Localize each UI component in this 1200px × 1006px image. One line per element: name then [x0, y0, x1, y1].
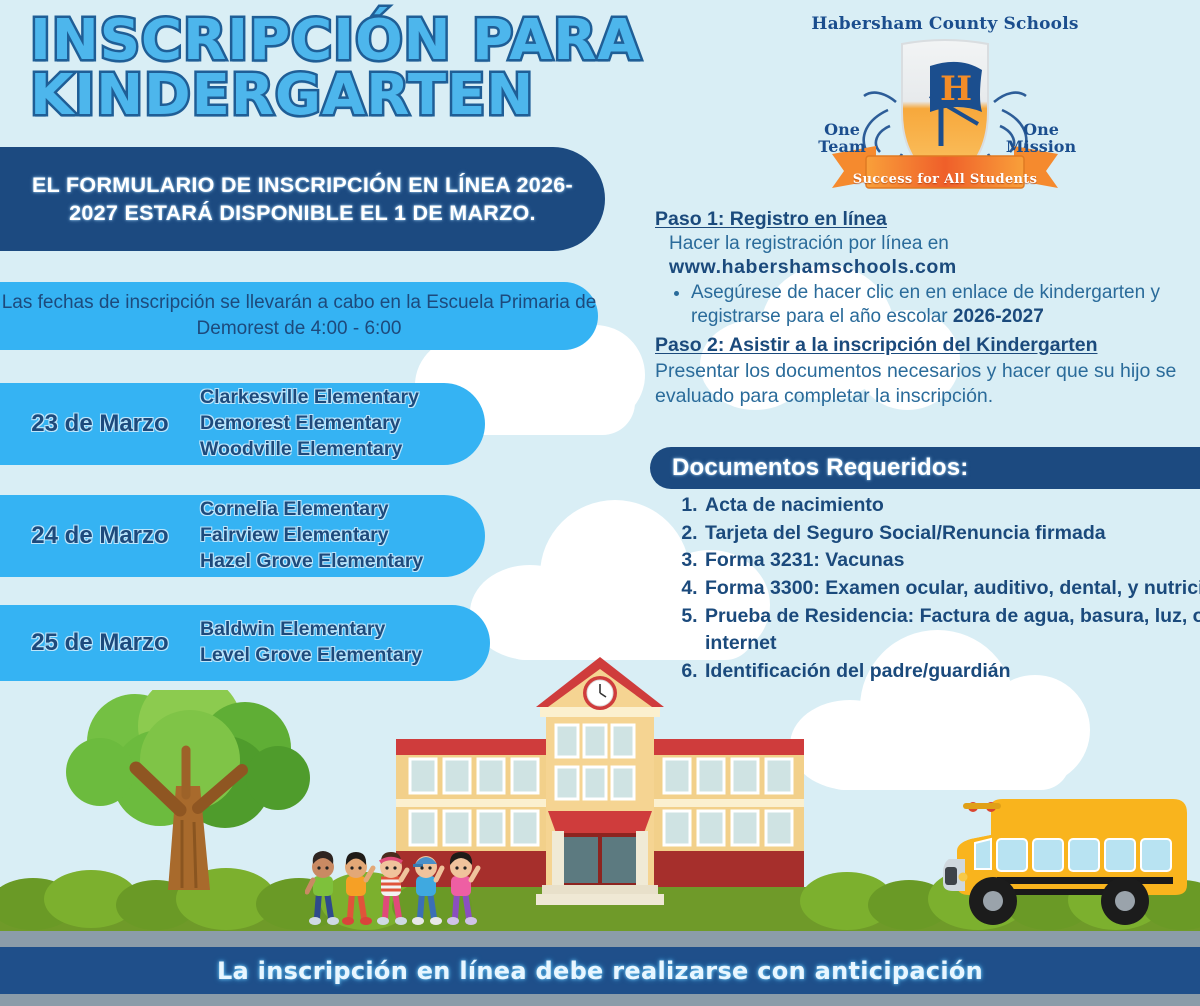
list-item: Asegúrese de hacer clic en en enlace de …	[691, 281, 1200, 330]
announcement-text: EL FORMULARIO DE INSCRIPCIÓN EN LÍNEA 20…	[0, 171, 605, 228]
title-line-2: KINDERGARTEN	[30, 69, 650, 122]
list-item: Prueba de Residencia: Factura de agua, b…	[703, 603, 1200, 658]
school-name: Baldwin Elementary	[200, 617, 422, 643]
child-2	[342, 852, 373, 925]
tree-illustration	[40, 690, 320, 905]
logo-left-motto: One Team	[812, 122, 872, 156]
school-name: Woodville Elementary	[200, 437, 419, 463]
step2-body: Presentar los documentos necesarios y ha…	[655, 359, 1200, 410]
list-item: Tarjeta del Seguro Social/Renuncia firma…	[703, 520, 1200, 548]
list-item: Forma 3231: Vacunas	[703, 547, 1200, 575]
list-item: Acta de nacimiento	[703, 492, 1200, 520]
poster-canvas: INSCRIPCIÓN PARA KINDERGARTEN EL FORMULA…	[0, 0, 1200, 1006]
announcement-banner: EL FORMULARIO DE INSCRIPCIÓN EN LÍNEA 20…	[0, 147, 605, 251]
footer-banner: La inscripción en línea debe realizarse …	[0, 947, 1200, 994]
school-name: Demorest Elementary	[200, 411, 419, 437]
footer-text: La inscripción en línea debe realizarse …	[217, 957, 983, 985]
step1-bullet-list: Asegúrese de hacer clic en en enlace de …	[655, 281, 1200, 330]
step2-heading: Paso 2: Asistir a la inscripción del Kin…	[655, 334, 1200, 357]
school-name: Clarkesville Elementary	[200, 385, 419, 411]
list-item: Identificación del padre/guardián	[703, 658, 1200, 686]
date-label: 24 de Marzo	[0, 522, 200, 550]
school-name: Hazel Grove Elementary	[200, 549, 423, 575]
school-name: Level Grove Elementary	[200, 643, 422, 669]
date-row: 23 de Marzo Clarkesville Elementary Demo…	[0, 383, 485, 465]
school-name: Cornelia Elementary	[200, 497, 423, 523]
steps-section: Paso 1: Registro en línea Hacer la regis…	[655, 208, 1200, 409]
title-line-1: INSCRIPCIÓN PARA	[30, 14, 650, 67]
list-item: Forma 3300: Examen ocular, auditivo, den…	[703, 575, 1200, 603]
children-illustration	[305, 840, 490, 932]
location-note-text: Las fechas de inscripción se llevarán a …	[0, 290, 598, 341]
logo-monogram: H	[940, 69, 972, 109]
location-note-pill: Las fechas de inscripción se llevarán a …	[0, 282, 598, 350]
school-year: 2026-2027	[953, 306, 1044, 327]
child-5	[447, 852, 478, 925]
step1-heading: Paso 1: Registro en línea	[655, 208, 1200, 231]
step1-subtext: Hacer la registración por línea en	[669, 233, 1200, 255]
child-1	[307, 851, 339, 925]
registration-url[interactable]: www.habershamschools.com	[669, 256, 1200, 279]
date-label: 25 de Marzo	[0, 629, 200, 657]
logo-ribbon-text: Success for All Students	[810, 172, 1080, 187]
school-bus-illustration	[935, 785, 1200, 940]
child-3	[377, 852, 407, 925]
child-4	[412, 856, 442, 925]
district-logo: Habersham County Schools	[810, 14, 1080, 214]
bullet-text: Asegúrese de hacer clic en en enlace de …	[691, 282, 1160, 327]
date-label: 23 de Marzo	[0, 410, 200, 438]
school-name: Fairview Elementary	[200, 523, 423, 549]
documents-heading: Documentos Requeridos:	[650, 454, 968, 482]
school-list: Cornelia Elementary Fairview Elementary …	[200, 497, 423, 575]
school-list: Clarkesville Elementary Demorest Element…	[200, 385, 419, 463]
school-list: Baldwin Elementary Level Grove Elementar…	[200, 617, 422, 669]
page-title: INSCRIPCIÓN PARA KINDERGARTEN	[30, 14, 650, 122]
date-row: 24 de Marzo Cornelia Elementary Fairview…	[0, 495, 485, 577]
documents-list: Acta de nacimiento Tarjeta del Seguro So…	[655, 492, 1200, 686]
documents-banner: Documentos Requeridos:	[650, 447, 1200, 489]
logo-right-motto: One Mission	[1002, 122, 1080, 156]
